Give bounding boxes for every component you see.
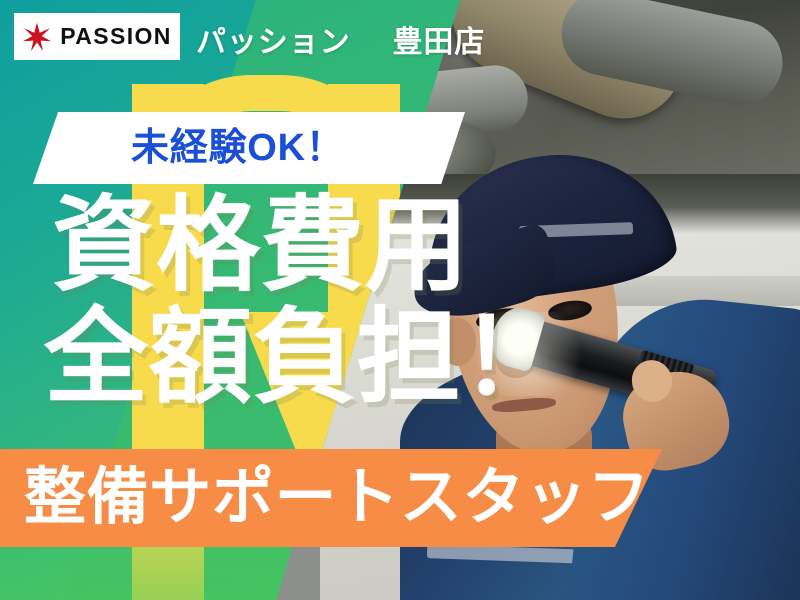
job-title-banner: 整備サポートスタッフ — [0, 449, 662, 547]
six-point-star-icon — [22, 22, 52, 52]
main-headline: 資格費用 全額負担！ — [52, 196, 565, 410]
no-experience-badge-label: 未経験OK！ — [131, 129, 345, 167]
headline-line-1: 資格費用 — [52, 196, 565, 298]
store-name: 豊田店 — [393, 26, 486, 59]
passion-logo[interactable]: PASSION — [14, 13, 180, 60]
passion-wordmark: PASSION — [60, 25, 171, 48]
brand-name: パッション — [196, 26, 351, 59]
job-title-label: 整備サポートスタッフ — [24, 467, 650, 529]
brand-heading: パッション豊田店 — [196, 17, 485, 61]
headline-line-2: 全額負担！ — [44, 308, 565, 410]
recruitment-banner: PASSION パッション豊田店 未経験OK！ 資格費用 全額負担！ 整備サポー… — [0, 0, 800, 600]
no-experience-badge: 未経験OK！ — [33, 112, 465, 184]
